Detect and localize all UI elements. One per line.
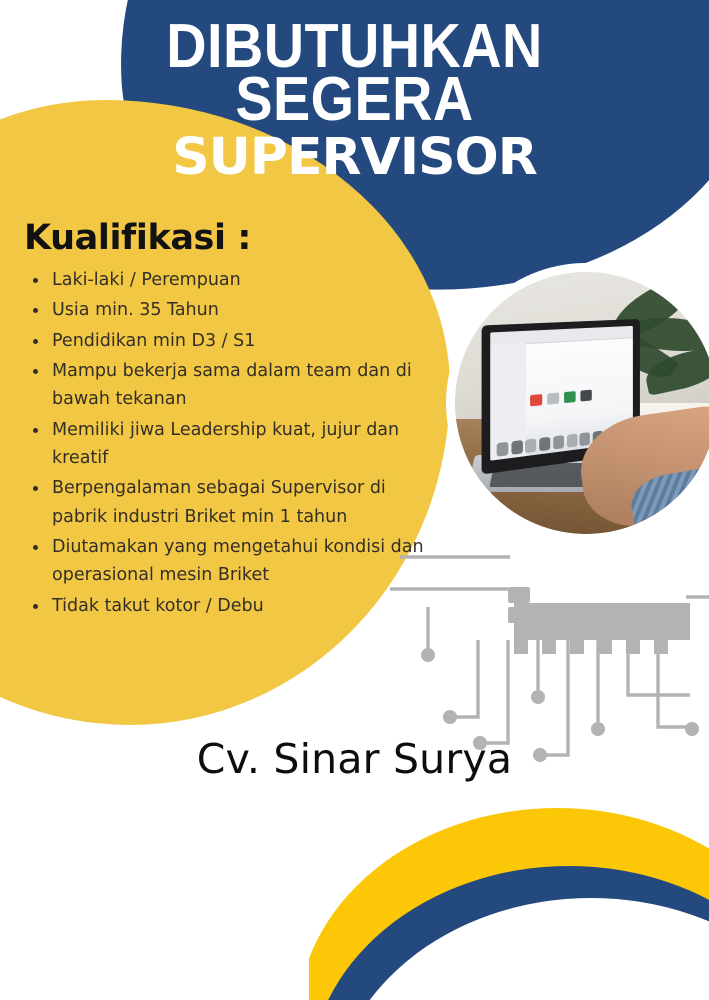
qualifications-block: Kualifikasi : Laki-laki / Perempuan Usia… [24,218,444,622]
qualification-item: Mampu bekerja sama dalam team dan di baw… [24,357,444,414]
qualification-item: Laki-laki / Perempuan [24,266,444,294]
headline-block: DIBUTUHKAN SEGERA SUPERVISOR [0,18,709,183]
qualification-item: Berpengalaman sebagai Supervisor di pabr… [24,474,444,531]
screen-toolbar [490,326,633,346]
qualification-item: Usia min. 35 Tahun [24,296,444,324]
qualification-item: Diutamakan yang mengetahui kondisi dan o… [24,533,444,590]
bottom-corner-arcs [309,780,709,1000]
headline-line-2: SEGERA [35,71,673,128]
qualification-item: Memiliki jiwa Leadership kuat, jujur dan… [24,416,444,473]
job-vacancy-poster: DIBUTUHKAN SEGERA SUPERVISOR [0,0,709,1000]
screen-app-icons [530,387,620,406]
company-name: Cv. Sinar Surya [0,735,709,783]
qualification-item: Pendidikan min D3 / S1 [24,327,444,355]
laptop-photo [455,272,709,534]
qualifications-list: Laki-laki / Perempuan Usia min. 35 Tahun… [24,266,444,620]
qualifications-heading: Kualifikasi : [24,218,444,258]
qualification-item: Tidak takut kotor / Debu [24,592,444,620]
position-title: SUPERVISOR [0,132,709,183]
photo-circle [455,272,709,534]
